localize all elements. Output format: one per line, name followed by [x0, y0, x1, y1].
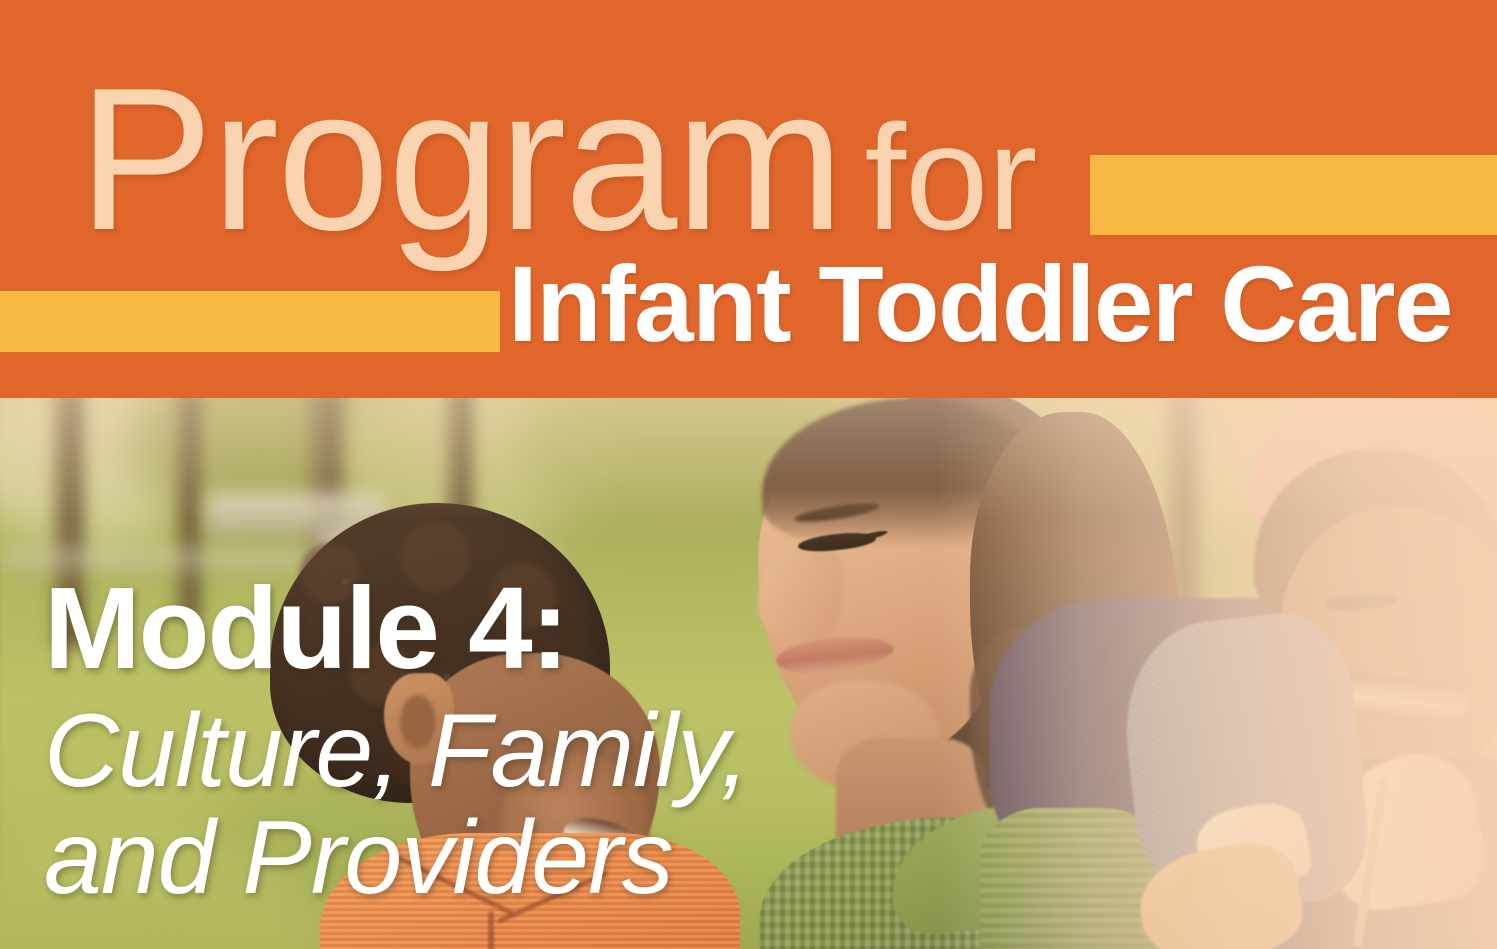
tree-trunk [46, 398, 92, 648]
brand-word-program: Program [78, 46, 842, 273]
toddler-figure [240, 503, 800, 949]
tree-trunk [170, 398, 208, 618]
toddler-shirt-seam [488, 911, 494, 949]
brand-word-for: for [842, 93, 1036, 261]
cover-photo [0, 398, 1497, 949]
brand-header-band: Programfor Infant Toddler Care [0, 0, 1497, 398]
toddler-hair-curl [400, 521, 470, 591]
toddler-hair-curl [490, 563, 556, 629]
man-figure [1130, 398, 1497, 949]
module-cover: Programfor Infant Toddler Care Module 4:… [0, 0, 1497, 949]
brand-title-line2: Infant Toddler Care [508, 250, 1452, 358]
brand-title-line1: Programfor [78, 58, 1036, 261]
toddler-ear-inner [400, 695, 436, 749]
accent-bar-left [0, 291, 500, 352]
accent-bar-right [1090, 155, 1497, 235]
toddler-orange-shirt [320, 833, 740, 949]
toddler-hair-curl [300, 543, 360, 603]
